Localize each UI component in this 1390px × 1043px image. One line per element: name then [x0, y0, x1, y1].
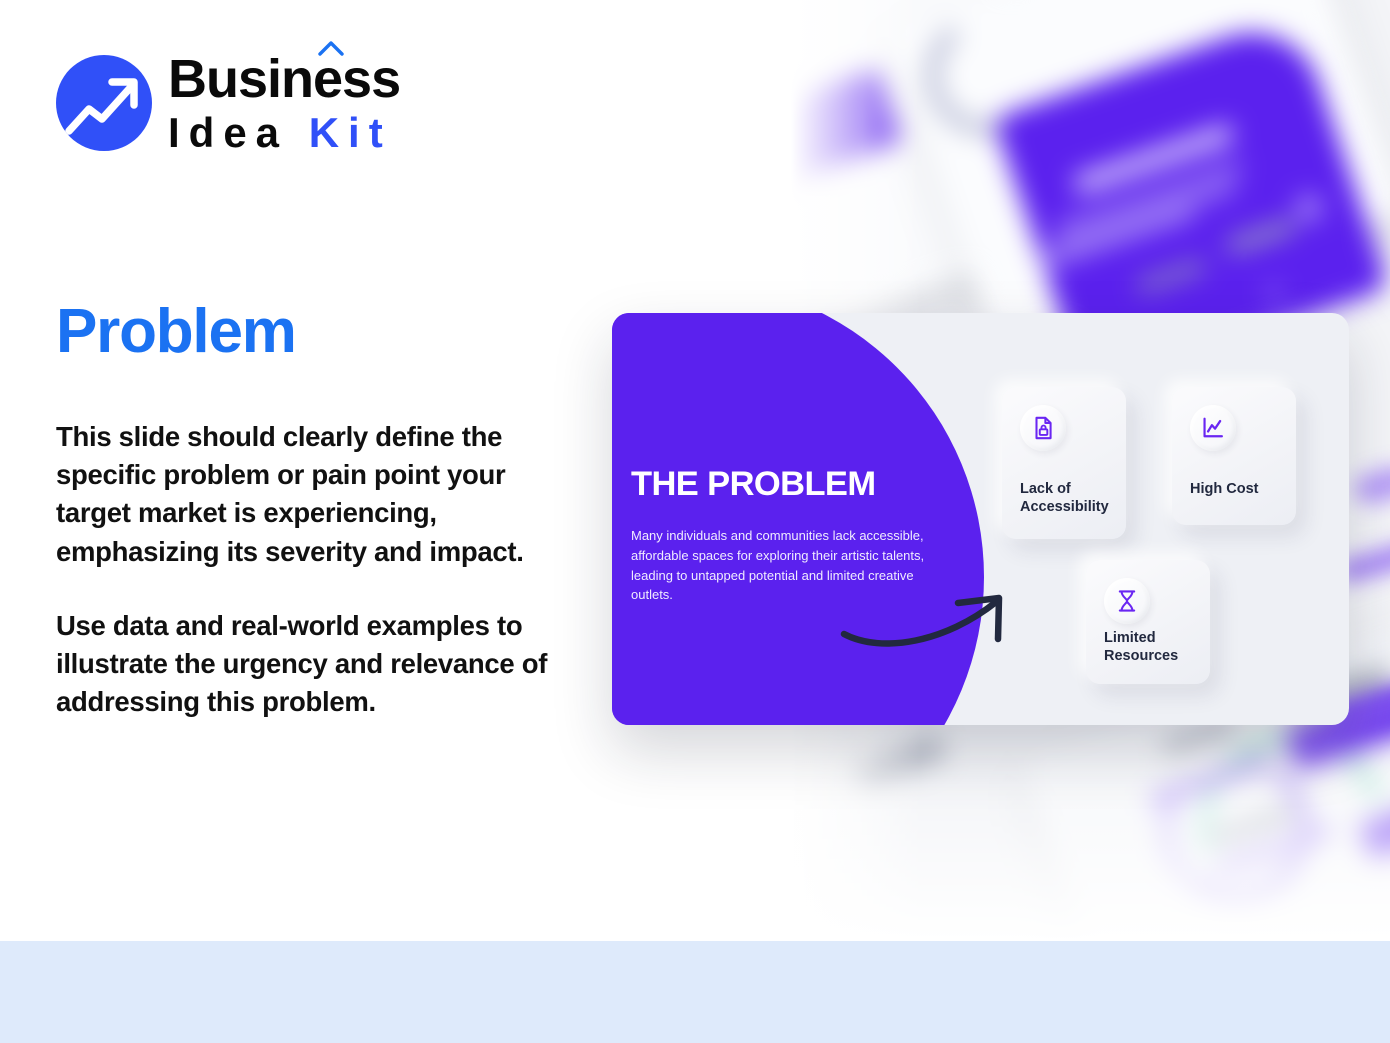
feature-card-label: Lack of Accessibility: [1020, 481, 1116, 517]
feature-card-label: Limited Resources: [1104, 630, 1200, 666]
photo-fade-bottom: [791, 691, 1390, 941]
line-chart-icon: [1190, 405, 1236, 451]
feature-card-limited-resources[interactable]: Limited Resources: [1086, 560, 1210, 684]
growth-chart-arrow-icon: [56, 55, 152, 151]
page-title: Problem: [56, 296, 296, 367]
slide-template-preview-page: Business Idea Kit Problem This slide sho…: [0, 0, 1390, 1043]
feature-card-lack-of-accessibility[interactable]: Lack of Accessibility: [1002, 387, 1126, 539]
brand-name-line1: Business: [168, 52, 400, 106]
background-dot-shape: [1296, 195, 1322, 221]
description-paragraph-1: This slide should clearly define the spe…: [56, 418, 566, 571]
feature-card-label: High Cost: [1190, 481, 1286, 499]
description-paragraph-2: Use data and real-world examples to illu…: [56, 607, 566, 722]
hourglass-icon: [1104, 578, 1150, 624]
slide-preview-heading: THE PROBLEM: [631, 465, 937, 504]
brand-name-accent-text: Kit: [309, 109, 392, 156]
footer-band: [0, 941, 1390, 1043]
brand-wordmark: Business Idea Kit: [168, 52, 400, 154]
slide-preview-text-group: THE PROBLEM Many individuals and communi…: [631, 465, 937, 605]
background-dot-shape: [1266, 285, 1282, 301]
brand-name-line2: Idea Kit: [168, 112, 400, 154]
feature-card-high-cost[interactable]: High Cost: [1172, 387, 1296, 525]
brand-name-line2-text: Idea: [168, 109, 309, 156]
document-lock-icon: [1020, 405, 1066, 451]
caret-accent-icon: [318, 40, 344, 56]
brand-lockup: Business Idea Kit: [56, 52, 400, 154]
curved-arrow-up-right-icon: [838, 592, 1014, 650]
description-block: This slide should clearly define the spe…: [56, 418, 566, 722]
brand-name-line1-text: Business: [168, 49, 400, 109]
